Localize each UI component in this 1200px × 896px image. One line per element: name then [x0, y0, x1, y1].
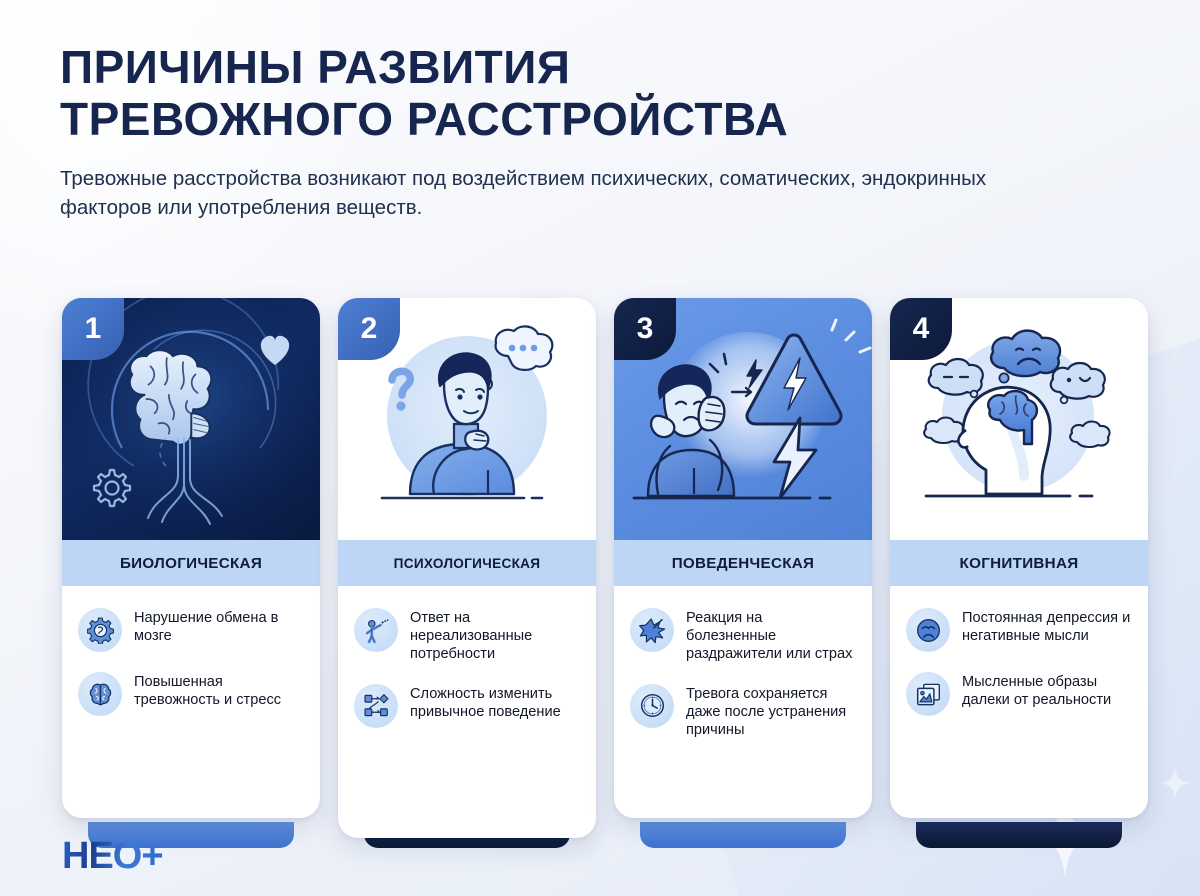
bullet-text: Постоянная депрессия и негативные мысли [962, 608, 1132, 645]
bullet-text: Реакция на болезненные раздражители или … [686, 608, 856, 664]
card-bullets-2: Ответ на нереализованные потребности [338, 586, 596, 838]
clock-icon [630, 684, 674, 728]
bullet-item: Реакция на болезненные раздражители или … [630, 608, 856, 664]
card-illustration-1: 1 [62, 298, 320, 540]
header: ПРИЧИНЫ РАЗВИТИЯ ТРЕВОЖНОГО РАССТРОЙСТВА… [60, 42, 1070, 222]
card-psychological[interactable]: 2 ПСИХОЛОГИЧЕСКАЯ [338, 298, 596, 838]
card-label-3: ПОВЕДЕНЧЕСКАЯ [672, 555, 815, 572]
card-bullets-1: Нарушение обмена в мозге Повышенная трев… [62, 586, 320, 818]
bullet-item: Ответ на нереализованные потребности [354, 608, 580, 664]
cards-grid: 1 БИОЛОГИЧЕСКАЯ Нарушени [62, 298, 1140, 838]
card-number-badge-3: 3 [614, 298, 676, 360]
logo: НЕО+ [62, 835, 163, 878]
bullet-text: Нарушение обмена в мозге [134, 608, 304, 645]
card-wrapper-1: 1 БИОЛОГИЧЕСКАЯ Нарушени [62, 298, 320, 838]
card-label-band-4: КОГНИТИВНАЯ [890, 540, 1148, 586]
card-behavioral[interactable]: 3 ПОВЕДЕНЧЕСКАЯ Реакция на болезненные р… [614, 298, 872, 818]
card-accent-bar-3 [640, 822, 846, 848]
burst-impact-icon [630, 608, 674, 652]
bullet-text: Мысленные образы далеки от реальности [962, 672, 1132, 709]
card-cognitive[interactable]: 4 КОГНИТИВНАЯ Постоянная [890, 298, 1148, 818]
card-label-band-3: ПОВЕДЕНЧЕСКАЯ [614, 540, 872, 586]
logo-text: НЕО+ [62, 835, 163, 878]
brain-icon [78, 672, 122, 716]
bullet-item: Нарушение обмена в мозге [78, 608, 304, 652]
bullet-item: Тревога сохраняется даже после устранени… [630, 684, 856, 740]
flow-diagram-icon [354, 684, 398, 728]
card-illustration-4: 4 [890, 298, 1148, 540]
card-bullets-4: Постоянная депрессия и негативные мысли … [890, 586, 1148, 818]
bullet-item: Сложность изменить привычное поведение [354, 684, 580, 728]
card-label-2: ПСИХОЛОГИЧЕСКАЯ [394, 556, 541, 571]
bullet-text: Сложность изменить привычное поведение [410, 684, 580, 721]
card-bullets-3: Реакция на болезненные раздражители или … [614, 586, 872, 818]
card-accent-bar-4 [916, 822, 1122, 848]
infographic-page: ПРИЧИНЫ РАЗВИТИЯ ТРЕВОЖНОГО РАССТРОЙСТВА… [0, 0, 1200, 896]
card-label-band-1: БИОЛОГИЧЕСКАЯ [62, 540, 320, 586]
card-number-badge-4: 4 [890, 298, 952, 360]
bullet-item: Мысленные образы далеки от реальности [906, 672, 1132, 716]
card-illustration-3: 3 [614, 298, 872, 540]
bullet-item: Повышенная тревожность и стресс [78, 672, 304, 716]
page-subtitle: Тревожные расстройства возникают под воз… [60, 164, 1000, 222]
sparkle-small-decoration-icon [1158, 766, 1192, 800]
title-line-1: ПРИЧИНЫ РАЗВИТИЯ [60, 41, 570, 93]
bullet-text: Повышенная тревожность и стресс [134, 672, 304, 709]
card-wrapper-3: 3 ПОВЕДЕНЧЕСКАЯ Реакция на болезненные р… [614, 298, 872, 838]
card-biological[interactable]: 1 БИОЛОГИЧЕСКАЯ Нарушени [62, 298, 320, 818]
card-label-band-2: ПСИХОЛОГИЧЕСКАЯ [338, 540, 596, 586]
card-wrapper-4: 4 КОГНИТИВНАЯ Постоянная [890, 298, 1148, 838]
photos-icon [906, 672, 950, 716]
card-illustration-2: 2 [338, 298, 596, 540]
person-reaching-icon [354, 608, 398, 652]
card-number-badge-2: 2 [338, 298, 400, 360]
bullet-text: Ответ на нереализованные потребности [410, 608, 580, 664]
card-label-4: КОГНИТИВНАЯ [960, 555, 1079, 572]
card-wrapper-2: 2 ПСИХОЛОГИЧЕСКАЯ [338, 298, 596, 838]
gear-metabolism-icon [78, 608, 122, 652]
card-number-badge-1: 1 [62, 298, 124, 360]
bullet-item: Постоянная депрессия и негативные мысли [906, 608, 1132, 652]
title-line-2: ТРЕВОЖНОГО РАССТРОЙСТВА [60, 93, 788, 145]
card-label-1: БИОЛОГИЧЕСКАЯ [120, 555, 262, 572]
bullet-text: Тревога сохраняется даже после устранени… [686, 684, 856, 740]
sad-face-icon [906, 608, 950, 652]
page-title: ПРИЧИНЫ РАЗВИТИЯ ТРЕВОЖНОГО РАССТРОЙСТВА [60, 42, 1070, 146]
